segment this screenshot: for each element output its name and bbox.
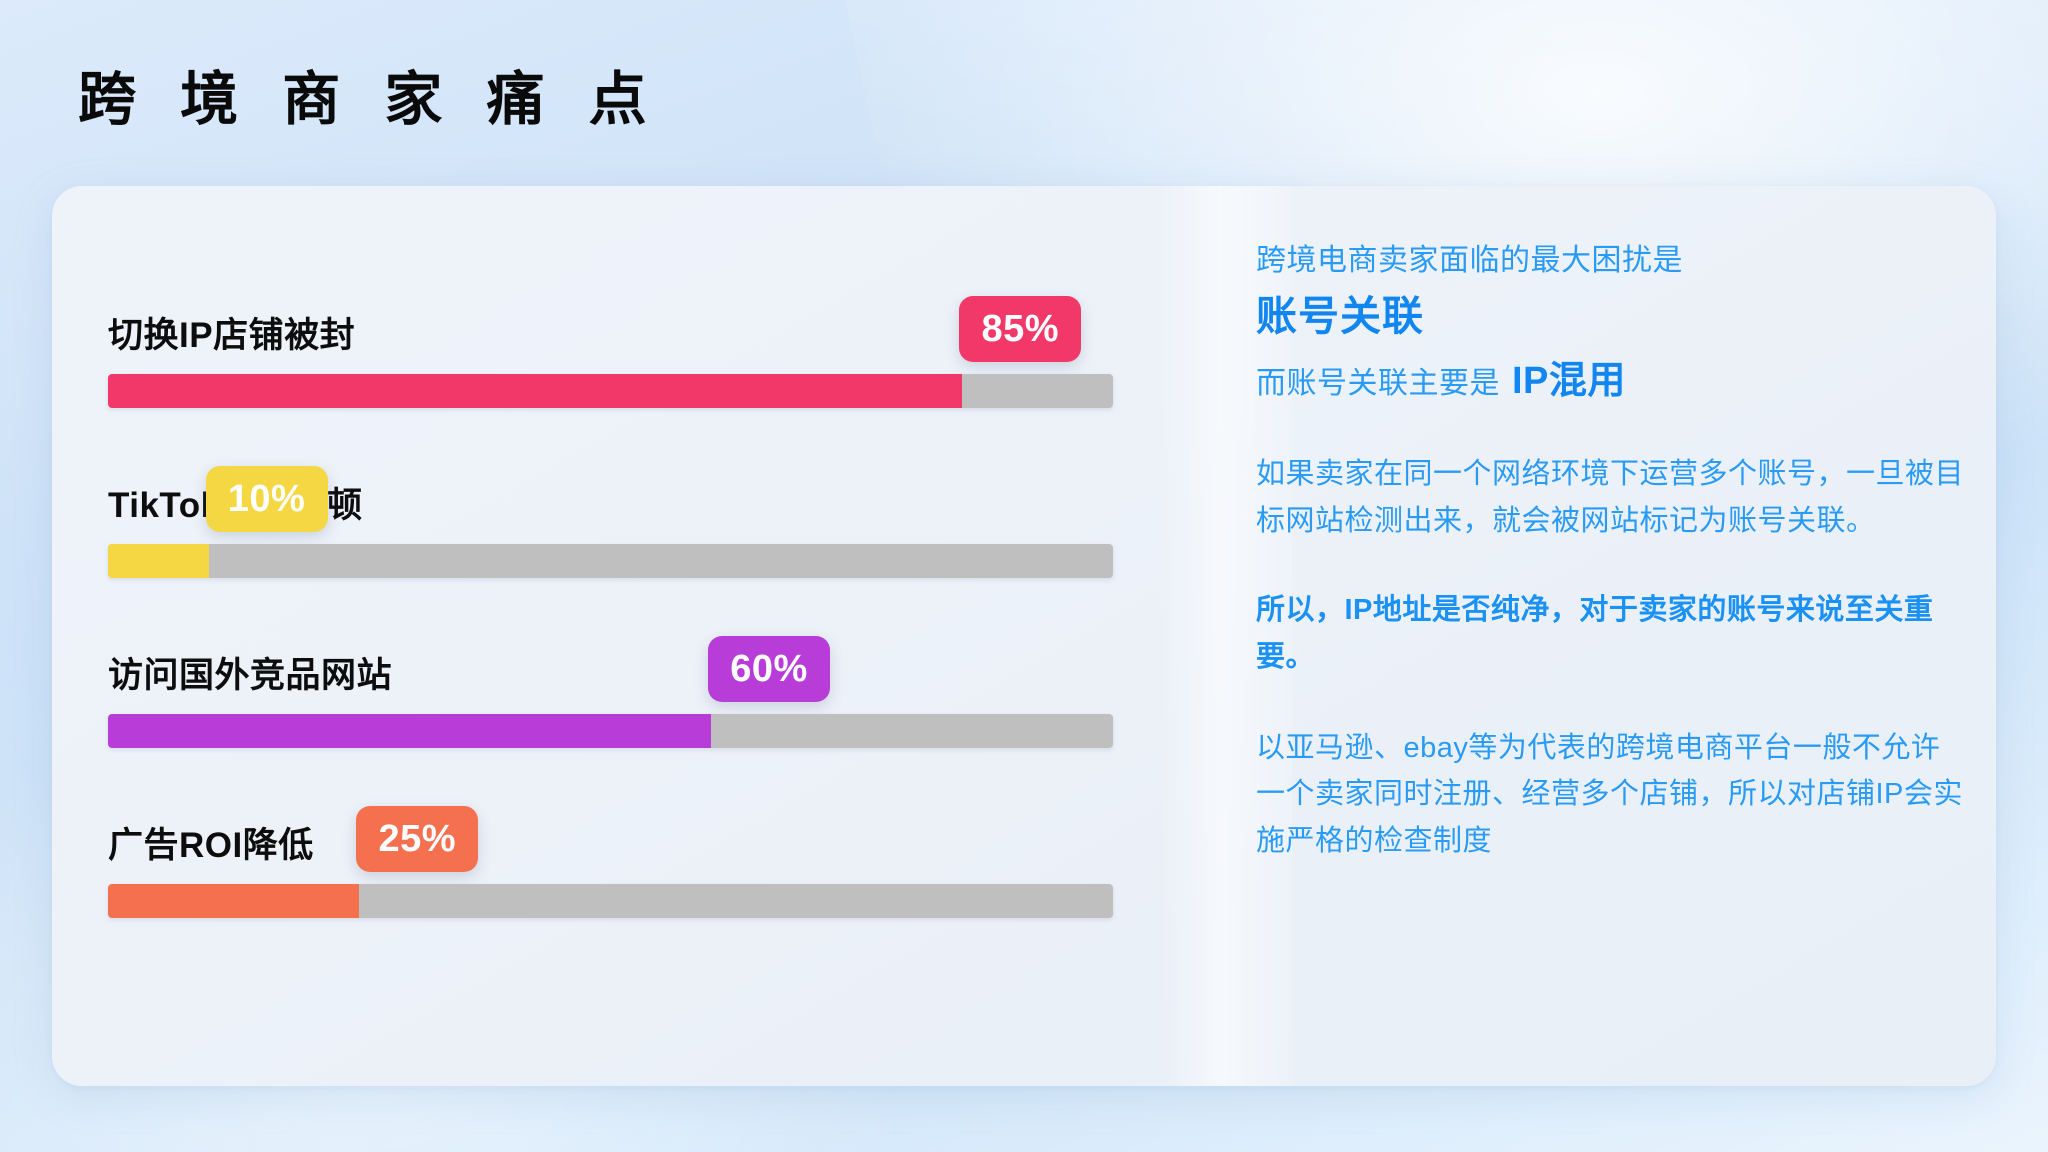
bar-label: 切换IP店铺被封 [108,307,355,358]
bar-track [108,714,1113,748]
page-background: 跨 境 商 家 痛 点 切换IP店铺被封 85% TikTok直播卡顿 10% [0,0,2048,1152]
bar-value-badge: 10% [206,466,328,532]
bar-header: 广告ROI降低 25% [108,788,1113,872]
lead-text: 跨境电商卖家面临的最大困扰是 [1256,238,1966,284]
bar-track [108,374,1113,408]
paragraph-3: 以亚马逊、ebay等为代表的跨境电商平台一般不允许一个卖家同时注册、经营多个店铺… [1256,725,1966,866]
bar-header: TikTok直播卡顿 10% [108,448,1113,532]
bar-fill [108,884,359,918]
bar-track [108,544,1113,578]
bar-value-badge: 85% [959,296,1081,362]
bar-fill [108,544,209,578]
paragraph-2: 所以，IP地址是否纯净，对于卖家的账号来说至关重要。 [1256,587,1966,681]
headline-text: 账号关联 [1256,290,1966,343]
bar-fill [108,714,711,748]
bar-header: 切换IP店铺被封 85% [108,278,1113,362]
subline-emphasis: IP混用 [1512,360,1626,402]
bar-group: 切换IP店铺被封 85% [108,278,1113,408]
bar-header: 访问国外竞品网站 60% [108,618,1113,702]
paragraph-1: 如果卖家在同一个网络环境下运营多个账号，一旦被目标网站检测出来，就会被网站标记为… [1256,451,1966,545]
bar-value-badge: 60% [708,636,830,702]
description-panel: 跨境电商卖家面临的最大困扰是 账号关联 而账号关联主要是IP混用 如果卖家在同一… [1256,186,1966,1086]
bar-label: 访问国外竞品网站 [108,647,392,698]
bar-value-badge: 25% [356,806,478,872]
bar-fill [108,374,962,408]
page-title: 跨 境 商 家 痛 点 [78,68,661,132]
bar-group: 广告ROI降低 25% [108,788,1113,918]
subline-prefix: 而账号关联主要是 [1256,367,1500,400]
bar-group: TikTok直播卡顿 10% [108,448,1113,578]
content-card: 切换IP店铺被封 85% TikTok直播卡顿 10% 访问国外竞品网站 [52,186,1996,1086]
bar-label: 广告ROI降低 [108,817,314,868]
bar-chart: 切换IP店铺被封 85% TikTok直播卡顿 10% 访问国外竞品网站 [108,186,1168,1086]
bar-track [108,884,1113,918]
subline: 而账号关联主要是IP混用 [1256,353,1966,411]
bar-group: 访问国外竞品网站 60% [108,618,1113,748]
